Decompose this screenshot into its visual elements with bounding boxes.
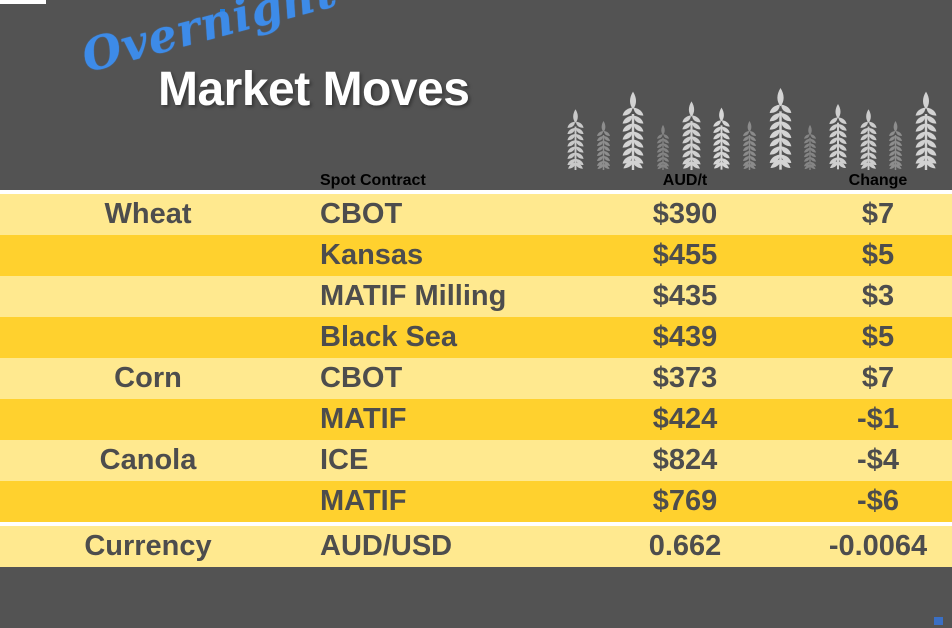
table-row: Kansas$455$5 — [0, 235, 952, 276]
cell-change: $7 — [780, 192, 952, 235]
market-moves-graphic: Overnight Market Moves Spot Contract AUD… — [0, 0, 952, 628]
cell-price: $769 — [590, 481, 780, 524]
bottom-band — [0, 589, 952, 628]
cell-contract: MATIF Milling — [296, 276, 590, 317]
column-header-contract: Spot Contract — [296, 172, 590, 192]
table-row: CornCBOT$373$7 — [0, 358, 952, 399]
cell-change: -$1 — [780, 399, 952, 440]
page-title: Market Moves — [158, 62, 469, 117]
cell-price: $824 — [590, 440, 780, 481]
cell-price: $455 — [590, 235, 780, 276]
table-row: WheatCBOT$390$7 — [0, 192, 952, 235]
cell-price: $435 — [590, 276, 780, 317]
cell-group — [0, 399, 296, 440]
table-row: CanolaICE$824-$4 — [0, 440, 952, 481]
wheat-stalk-icon — [712, 106, 731, 170]
cell-contract: CBOT — [296, 192, 590, 235]
cell-change: $3 — [780, 276, 952, 317]
wheat-stalk-icon — [656, 124, 670, 170]
cell-change: -$6 — [780, 481, 952, 524]
cell-change: -$4 — [780, 440, 952, 481]
wheat-stalk-icon — [596, 120, 611, 170]
cell-group — [0, 276, 296, 317]
column-header-price: AUD/t — [590, 172, 780, 192]
cell-contract: MATIF — [296, 399, 590, 440]
market-prices-table: Spot Contract AUD/t Change WheatCBOT$390… — [0, 172, 952, 567]
cell-price: 0.662 — [590, 524, 780, 567]
cell-contract: Black Sea — [296, 317, 590, 358]
table-row: MATIF$424-$1 — [0, 399, 952, 440]
wheat-stalk-icon — [768, 86, 793, 170]
cell-group — [0, 235, 296, 276]
wheat-stalk-icon — [859, 108, 878, 170]
wheat-stalk-decoration — [566, 74, 938, 170]
table-header-row: Spot Contract AUD/t Change — [0, 172, 952, 192]
cell-contract: ICE — [296, 440, 590, 481]
cell-group: Wheat — [0, 192, 296, 235]
wheat-stalk-icon — [566, 108, 585, 170]
cell-price: $439 — [590, 317, 780, 358]
cell-group: Corn — [0, 358, 296, 399]
table-row: MATIF$769-$6 — [0, 481, 952, 524]
table-row: CurrencyAUD/USD0.662-0.0064 — [0, 524, 952, 567]
corner-blue-artifact — [934, 617, 943, 625]
cell-group — [0, 481, 296, 524]
cell-change: $7 — [780, 358, 952, 399]
wheat-stalk-icon — [681, 100, 702, 170]
cell-contract: Kansas — [296, 235, 590, 276]
cell-change: $5 — [780, 317, 952, 358]
wheat-stalk-icon — [742, 120, 757, 170]
cell-contract: CBOT — [296, 358, 590, 399]
cell-price: $373 — [590, 358, 780, 399]
table-row: Black Sea$439$5 — [0, 317, 952, 358]
cell-group: Currency — [0, 524, 296, 567]
wheat-stalk-icon — [888, 120, 903, 170]
cell-contract: MATIF — [296, 481, 590, 524]
header-band: Overnight Market Moves — [0, 0, 952, 172]
cell-change: -0.0064 — [780, 524, 952, 567]
wheat-stalk-icon — [803, 124, 817, 170]
column-header-change: Change — [780, 172, 952, 192]
cell-contract: AUD/USD — [296, 524, 590, 567]
cell-change: $5 — [780, 235, 952, 276]
table-body: WheatCBOT$390$7Kansas$455$5MATIF Milling… — [0, 192, 952, 567]
wheat-stalk-icon — [914, 90, 938, 170]
column-header-group — [0, 172, 296, 192]
cell-group — [0, 317, 296, 358]
table-header: Spot Contract AUD/t Change — [0, 172, 952, 192]
cell-price: $424 — [590, 399, 780, 440]
wheat-stalk-icon — [828, 102, 848, 170]
cell-price: $390 — [590, 192, 780, 235]
top-edge-artifact — [0, 0, 46, 4]
cell-group: Canola — [0, 440, 296, 481]
table-row: MATIF Milling$435$3 — [0, 276, 952, 317]
title-block: Overnight Market Moves — [80, 24, 550, 134]
wheat-stalk-icon — [621, 90, 645, 170]
